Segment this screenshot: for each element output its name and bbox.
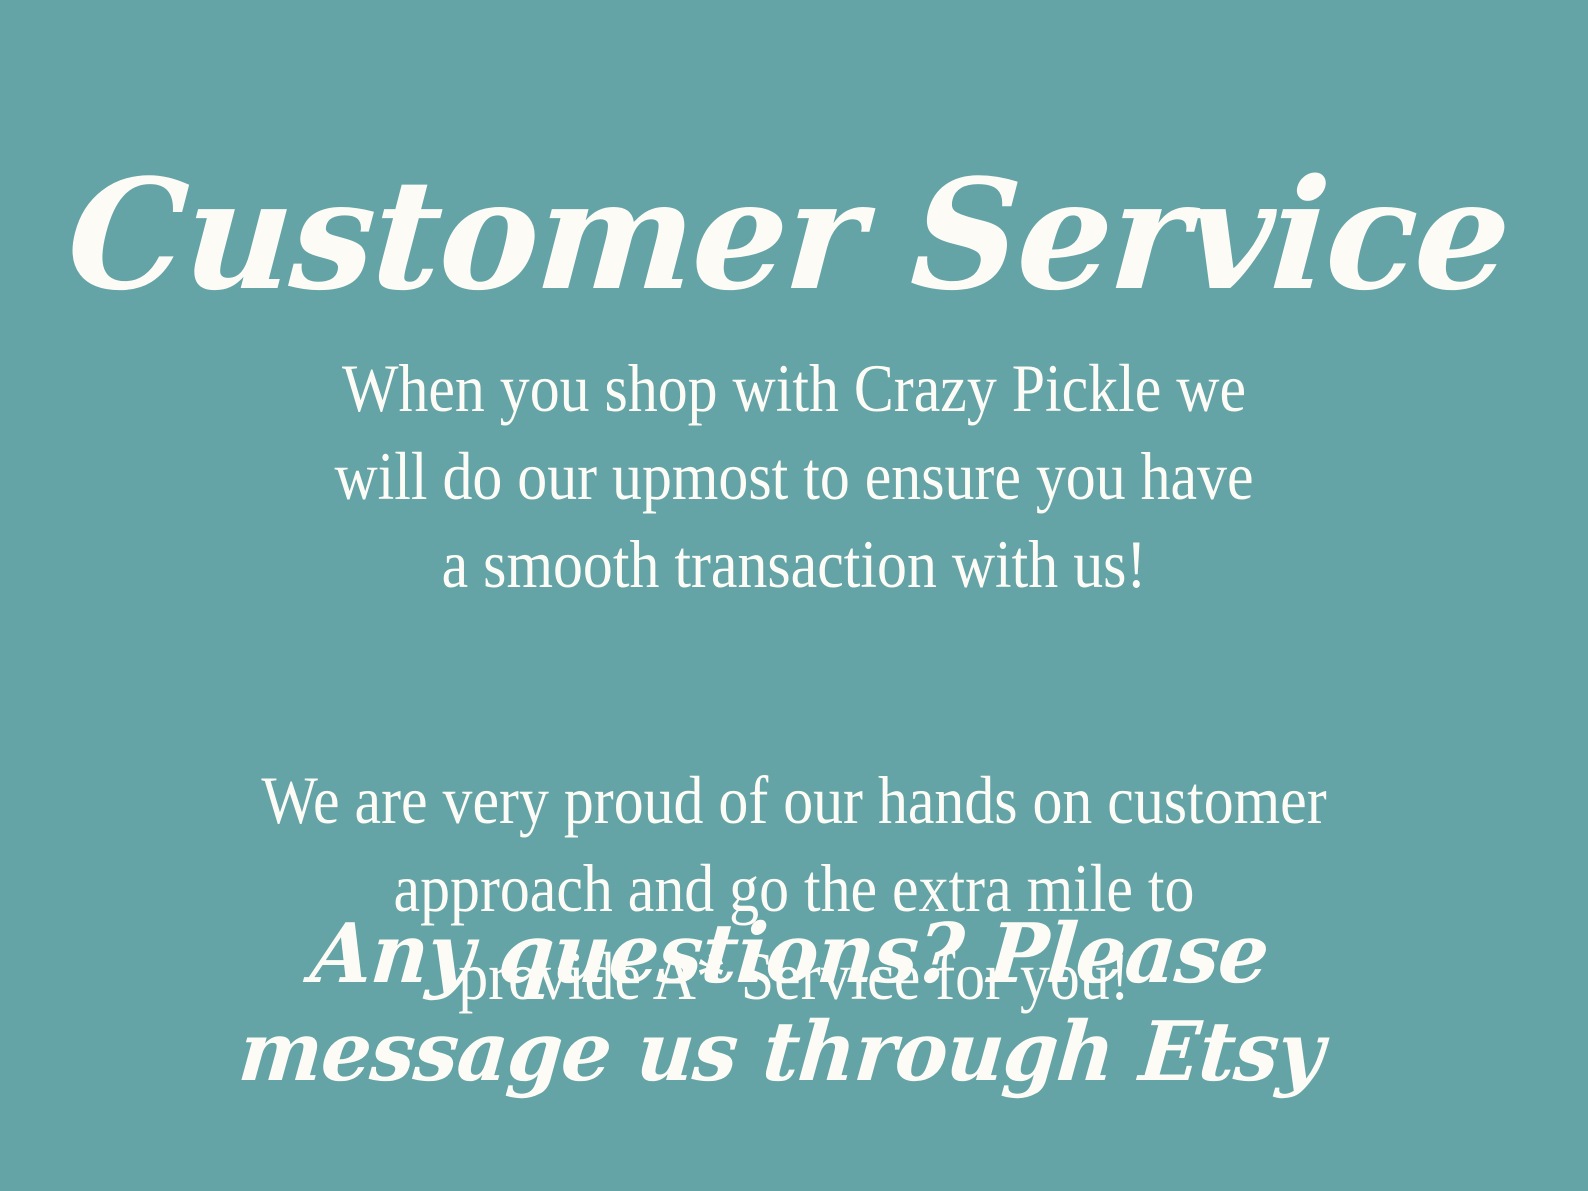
paragraph-shop-promise: When you shop with Crazy Pickle we will … — [222, 344, 1366, 608]
paragraph-line: will do our upmost to ensure you have — [222, 432, 1366, 520]
contact-callout: Any questions? Please message us through… — [15, 905, 1557, 1101]
contact-callout-line: message us through Etsy — [15, 1003, 1548, 1101]
paragraph-line: When you shop with Crazy Pickle we — [222, 344, 1366, 432]
customer-service-poster: Customer Service When you shop with Craz… — [0, 0, 1588, 1191]
paragraph-line: We are very proud of our hands on custom… — [222, 756, 1366, 844]
paragraph-line: a smooth transaction with us! — [222, 520, 1366, 608]
contact-callout-line: Any questions? Please — [23, 905, 1556, 1003]
